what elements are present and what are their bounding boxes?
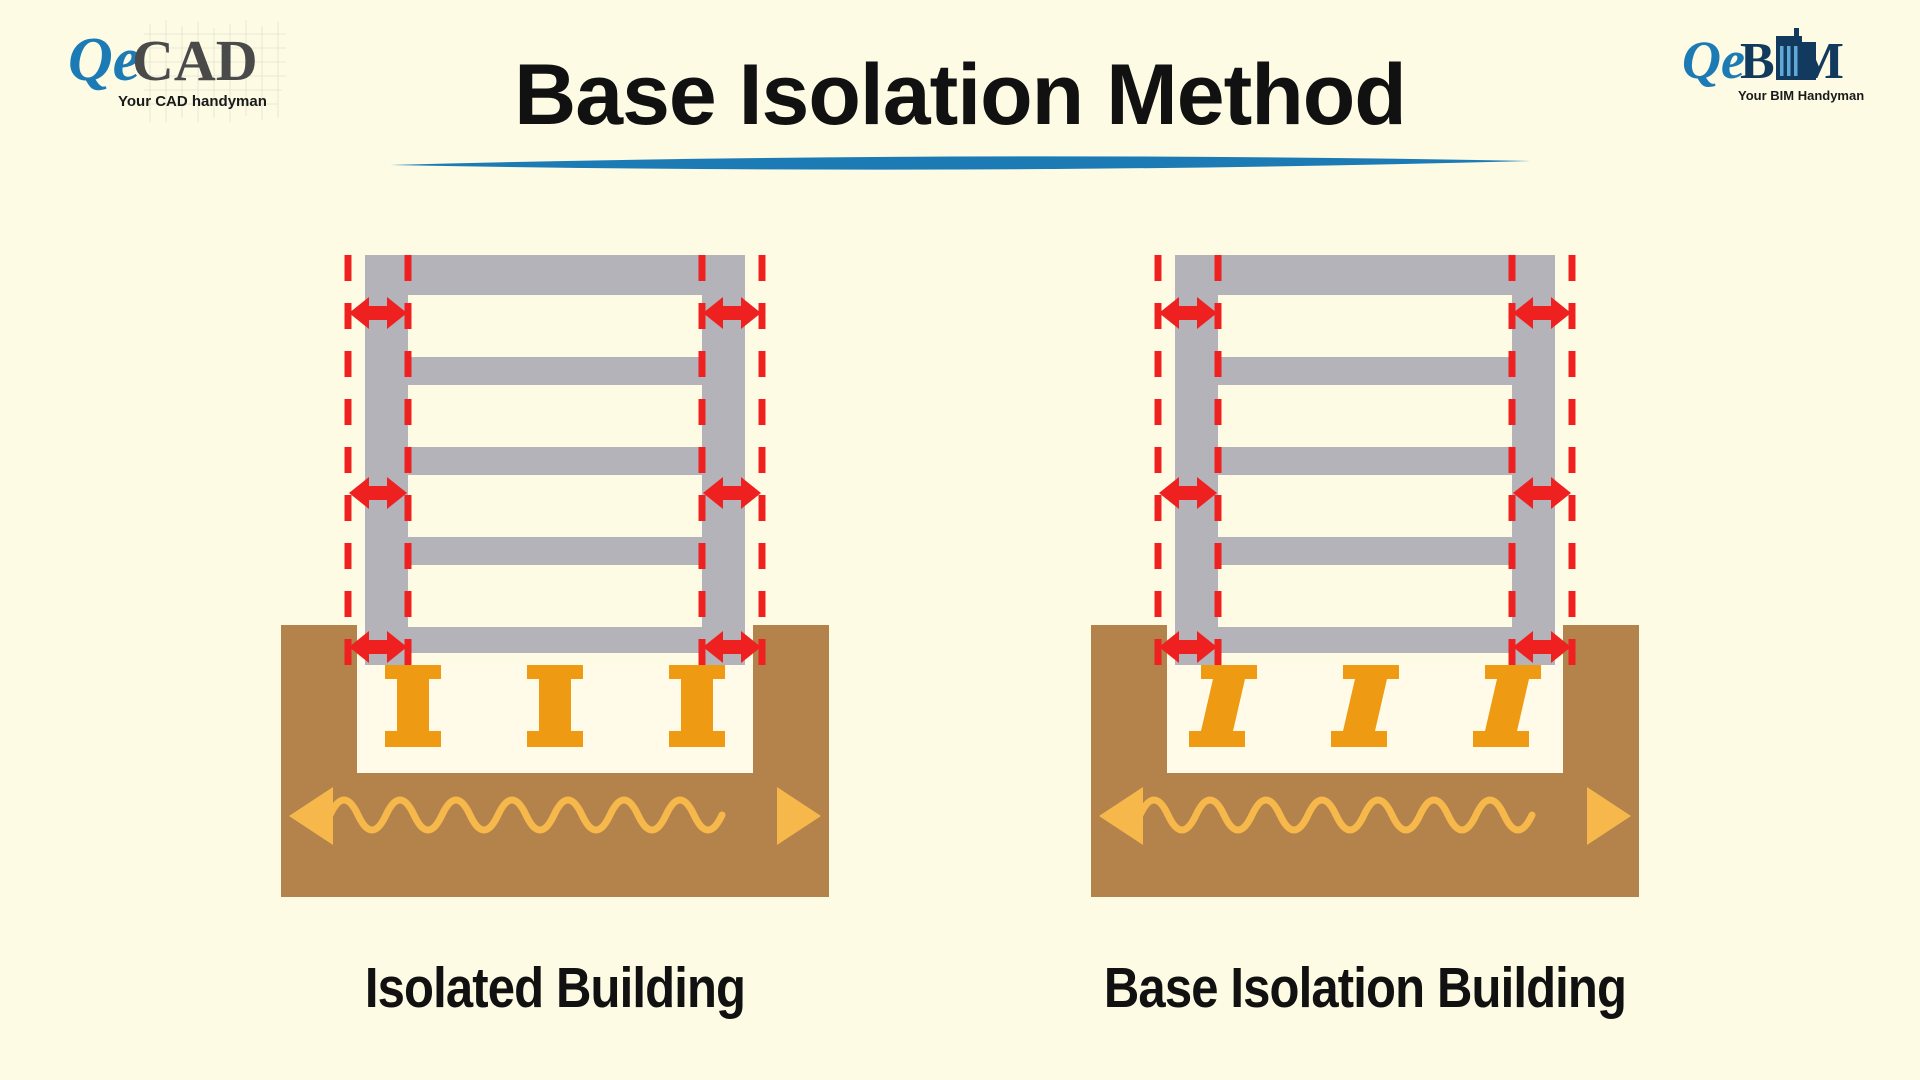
- page-title: Base Isolation Method: [0, 52, 1920, 138]
- diagram-isolated-building: [245, 255, 865, 955]
- infographic-page: { "page": { "background_color": "#FDFBE4…: [0, 0, 1920, 1080]
- caption-base-isolation-building: Base Isolation Building: [1098, 955, 1631, 1021]
- title-underline: [390, 156, 1530, 172]
- panel-base-isolation-building: Base Isolation Building: [1055, 255, 1675, 1045]
- diagram-base-isolation-building: [1055, 255, 1675, 955]
- building-frame: [1175, 255, 1555, 665]
- panel-isolated-building: Isolated Building: [245, 255, 865, 1045]
- caption-isolated-building: Isolated Building: [288, 955, 821, 1021]
- building-frame: [365, 255, 745, 665]
- title-block: Base Isolation Method: [0, 52, 1920, 172]
